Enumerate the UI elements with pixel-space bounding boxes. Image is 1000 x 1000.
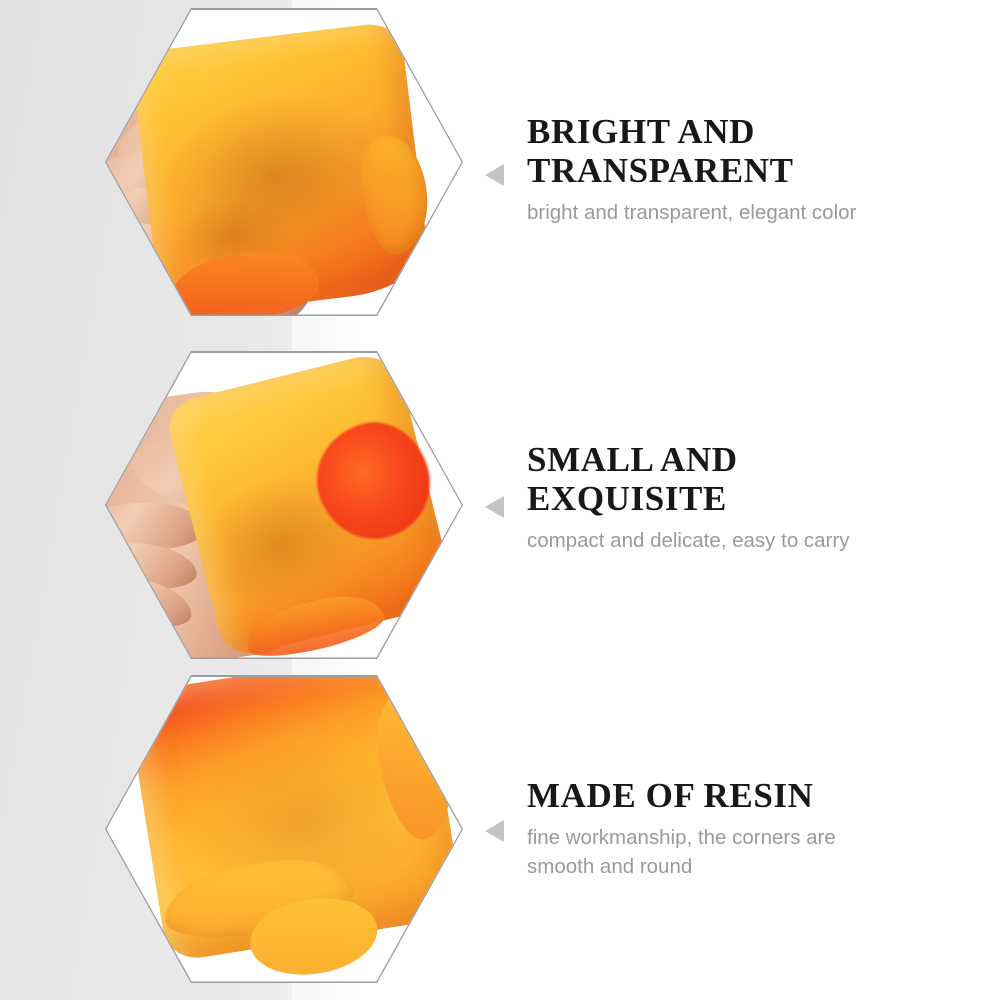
- hex-frame-inner-1: [107, 10, 462, 315]
- product-photo-2: [107, 353, 462, 658]
- hex-photo-card-1[interactable]: [105, 8, 463, 316]
- feature-block-1: BRIGHT AND TRANSPARENT bright and transp…: [527, 112, 957, 227]
- triangle-left-icon-2: [485, 496, 504, 518]
- feature-subline-3: fine workmanship, the corners are smooth…: [527, 823, 957, 881]
- triangle-left-icon-1: [485, 164, 504, 186]
- triangle-left-icon-3: [485, 820, 504, 842]
- feature-subline-1: bright and transparent, elegant color: [527, 198, 957, 227]
- feature-block-3: MADE OF RESIN fine workmanship, the corn…: [527, 776, 957, 881]
- infographic-stage: BRIGHT AND TRANSPARENT bright and transp…: [0, 0, 1000, 1000]
- feature-headline-1: BRIGHT AND TRANSPARENT: [527, 112, 957, 190]
- feature-headline-3: MADE OF RESIN: [527, 776, 957, 815]
- product-photo-1: [107, 10, 462, 315]
- hex-photo-card-2[interactable]: [105, 351, 463, 659]
- feature-headline-2: SMALL AND EXQUISITE: [527, 440, 957, 518]
- product-photo-3: [107, 677, 462, 982]
- feature-block-2: SMALL AND EXQUISITE compact and delicate…: [527, 440, 957, 555]
- hex-frame-inner-3: [107, 677, 462, 982]
- hex-frame-inner-2: [107, 353, 462, 658]
- feature-subline-2: compact and delicate, easy to carry: [527, 526, 957, 555]
- gua-sha-plate-1: [129, 20, 432, 315]
- hex-photo-card-3[interactable]: [105, 675, 463, 983]
